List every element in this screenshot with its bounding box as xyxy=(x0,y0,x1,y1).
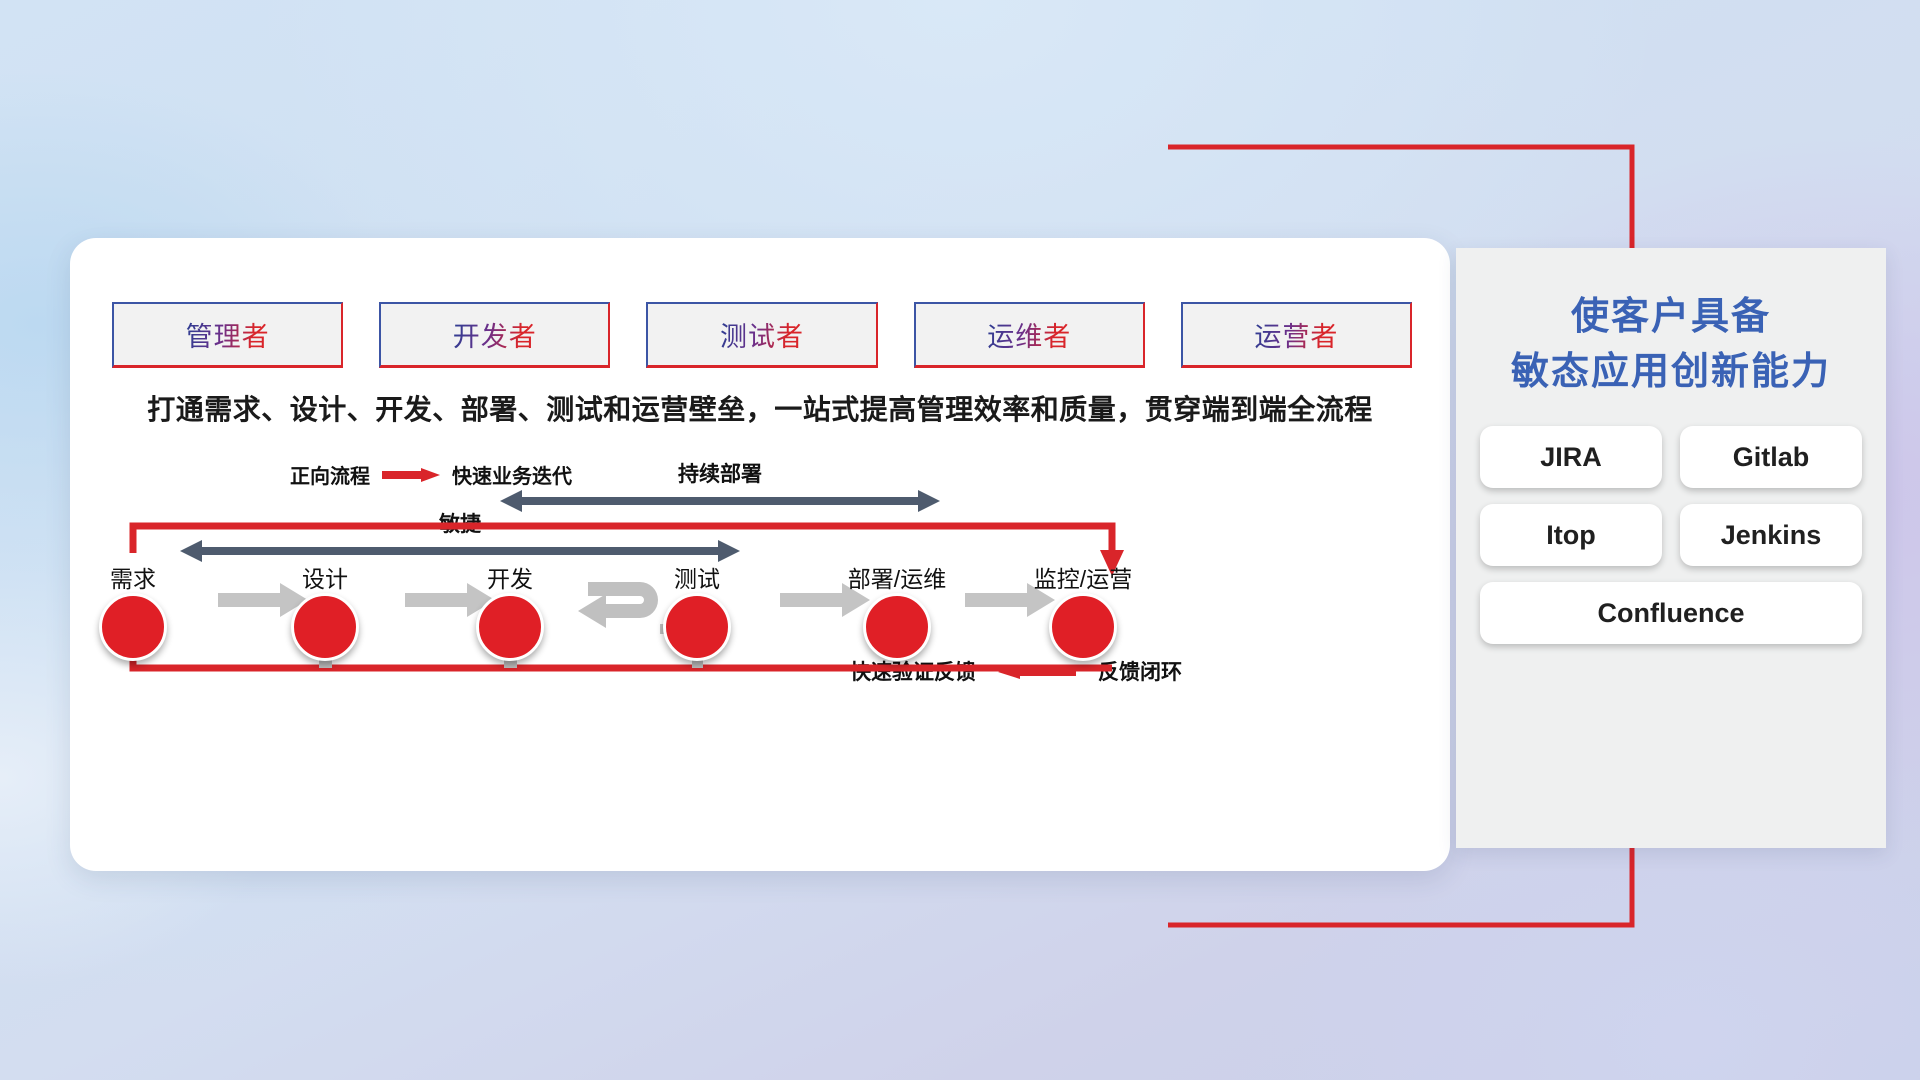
legend-forward-left-label: 正向流程 xyxy=(290,460,370,489)
node-label-3: 测试 xyxy=(674,560,720,594)
role-box-4[interactable]: 运营者 xyxy=(1181,302,1412,368)
node-label-0: 需求 xyxy=(110,560,156,594)
tool-chip-gitlab[interactable]: Gitlab xyxy=(1680,426,1862,488)
role-box-0[interactable]: 管理者 xyxy=(112,302,343,368)
node-dot-5[interactable] xyxy=(1049,593,1117,661)
node-label-1: 设计 xyxy=(302,560,348,594)
role-boxes-row: 管理者 开发者 测试者 运维者 运营者 xyxy=(112,302,1412,368)
tagline-text: 打通需求、设计、开发、部署、测试和运营壁垒，一站式提高管理效率和质量，贯穿端到端… xyxy=(70,388,1450,428)
measure-label: 持续部署 xyxy=(500,458,940,488)
red-arrow-right-icon xyxy=(382,468,440,481)
role-label: 开发者 xyxy=(453,315,537,354)
double-arrow-icon xyxy=(180,538,740,564)
role-label: 管理者 xyxy=(186,315,270,354)
right-panel-title-line2: 敏态应用创新能力 xyxy=(1456,345,1886,400)
right-panel-title: 使客户具备 敏态应用创新能力 xyxy=(1456,290,1886,400)
main-diagram-card: 管理者 开发者 测试者 运维者 运营者 打通需求、设计、开发、部署、测试和运营壁… xyxy=(70,238,1450,871)
right-side-panel: 使客户具备 敏态应用创新能力 JIRA Gitlab Itop Jenkins … xyxy=(1456,248,1886,848)
tool-chip-confluence[interactable]: Confluence xyxy=(1480,582,1862,644)
role-label: 运营者 xyxy=(1254,315,1338,354)
role-label: 运维者 xyxy=(987,315,1071,354)
role-box-1[interactable]: 开发者 xyxy=(379,302,610,368)
node-dot-3[interactable] xyxy=(663,593,731,661)
node-label-5: 监控/运营 xyxy=(1034,560,1132,594)
node-label-4: 部署/运维 xyxy=(848,560,946,594)
tool-chip-jira[interactable]: JIRA xyxy=(1480,426,1662,488)
node-dot-0[interactable] xyxy=(99,593,167,661)
tool-chip-list: JIRA Gitlab Itop Jenkins Confluence xyxy=(1480,426,1862,644)
right-panel-title-line1: 使客户具备 xyxy=(1456,290,1886,345)
red-arrow-left-icon xyxy=(998,665,1076,678)
role-box-3[interactable]: 运维者 xyxy=(914,302,1145,368)
legend-feedback-right-label: 反馈闭环 xyxy=(1098,656,1182,686)
node-dot-1[interactable] xyxy=(291,593,359,661)
node-label-2: 开发 xyxy=(487,560,533,594)
measure-label: 敏捷 xyxy=(180,508,740,538)
tool-chip-jenkins[interactable]: Jenkins xyxy=(1680,504,1862,566)
tool-chip-itop[interactable]: Itop xyxy=(1480,504,1662,566)
node-dot-2[interactable] xyxy=(476,593,544,661)
node-dot-4[interactable] xyxy=(863,593,931,661)
legend-feedback-left-label: 快速验证反馈 xyxy=(850,656,976,686)
role-box-2[interactable]: 测试者 xyxy=(646,302,877,368)
measure-agile: 敏捷 xyxy=(180,538,740,564)
role-label: 测试者 xyxy=(720,315,804,354)
